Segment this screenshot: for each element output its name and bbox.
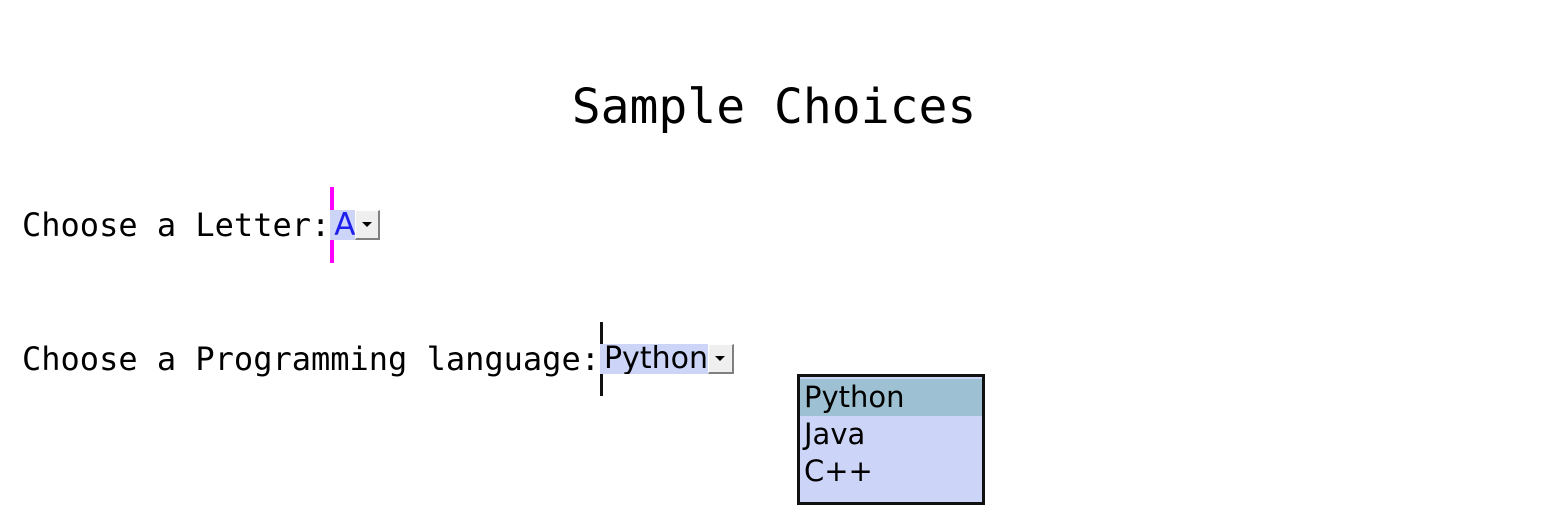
language-select-value: Python <box>600 344 708 374</box>
chevron-down-icon <box>715 356 725 361</box>
letter-select-wrapper: A <box>330 191 380 259</box>
letter-field-label: Choose a Letter: <box>22 207 330 243</box>
language-options-popup[interactable]: PythonJavaC++ <box>797 374 985 505</box>
language-option[interactable]: Java <box>800 416 982 453</box>
letter-select-arrow-button[interactable] <box>355 210 380 240</box>
language-select[interactable]: Python <box>600 344 734 374</box>
language-select-border: Python <box>600 322 734 396</box>
page-title: Sample Choices <box>0 78 1548 136</box>
letter-select-focus-ring: A <box>330 187 380 263</box>
language-select-wrapper: Python <box>600 325 734 393</box>
language-option[interactable]: Python <box>800 379 982 416</box>
language-select-arrow-button[interactable] <box>708 344 734 374</box>
language-option[interactable]: C++ <box>800 453 982 490</box>
letter-select[interactable]: A <box>330 210 380 240</box>
language-field-row: Choose a Programming language: Python <box>22 325 734 393</box>
letter-field-row: Choose a Letter: A <box>22 191 380 259</box>
language-field-label: Choose a Programming language: <box>22 341 600 377</box>
letter-select-value: A <box>330 210 355 240</box>
chevron-down-icon <box>362 222 372 227</box>
